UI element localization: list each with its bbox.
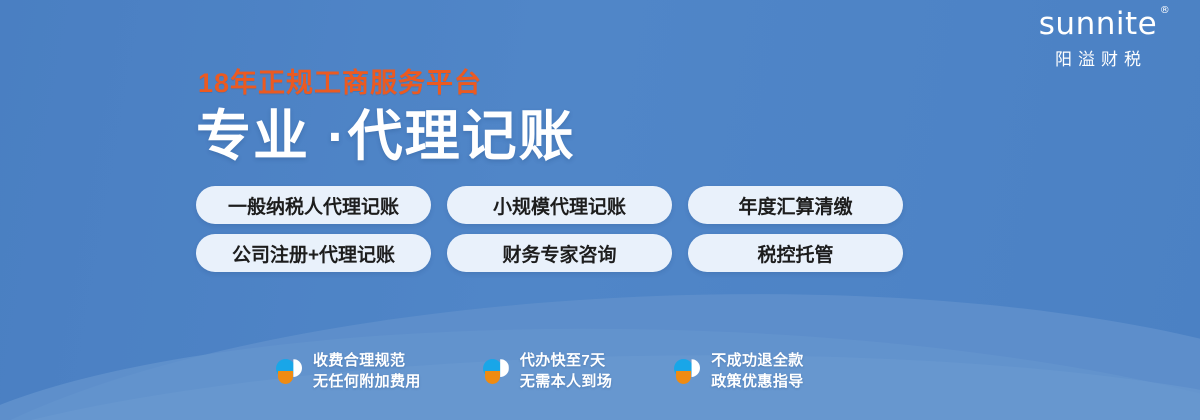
service-pill-tax-control-hosting[interactable]: 税控托管 <box>688 234 903 272</box>
dot-badge-icon-base <box>676 371 691 384</box>
feature-item-speed: 代办快至7天 无需本人到场 <box>483 350 612 393</box>
feature-item-guarantee: 不成功退全款 政策优惠指导 <box>674 350 803 393</box>
brand-logo[interactable]: sunnite ® 阳溢财税 <box>1018 8 1178 70</box>
brand-chinese-name: 阳溢财税 <box>1018 45 1178 70</box>
feature-strip: 收费合理规范 无任何附加费用 代办快至7天 无需本人到场 不成功退全款 <box>276 350 804 393</box>
feature-text-guarantee: 不成功退全款 政策优惠指导 <box>711 350 803 393</box>
dot-badge-icon-base <box>278 371 293 384</box>
service-pill-annual-settlement[interactable]: 年度汇算清缴 <box>688 186 903 224</box>
feature-line-1: 代办快至7天 <box>520 350 612 371</box>
feature-item-pricing: 收费合理规范 无任何附加费用 <box>276 350 421 393</box>
page-title: 专业 ·代理记账 <box>196 107 936 166</box>
feature-line-1: 不成功退全款 <box>711 350 803 371</box>
feature-text-pricing: 收费合理规范 无任何附加费用 <box>313 350 421 393</box>
feature-line-2: 政策优惠指导 <box>711 371 803 392</box>
registered-trademark-icon: ® <box>1160 6 1171 16</box>
service-pill-company-registration[interactable]: 公司注册+代理记账 <box>196 234 431 272</box>
dot-badge-icon <box>674 357 700 385</box>
promo-banner: sunnite ® 阳溢财税 18年正规工商服务平台 专业 ·代理记账 一般纳税… <box>0 0 1200 420</box>
hero-copy: 18年正规工商服务平台 专业 ·代理记账 一般纳税人代理记账 小规模代理记账 年… <box>196 70 936 272</box>
dot-badge-icon <box>276 357 302 385</box>
service-pill-general-taxpayer[interactable]: 一般纳税人代理记账 <box>196 186 431 224</box>
feature-line-2: 无需本人到场 <box>520 371 612 392</box>
dot-badge-icon <box>483 357 509 385</box>
feature-line-1: 收费合理规范 <box>313 350 421 371</box>
service-pill-expert-consulting[interactable]: 财务专家咨询 <box>447 234 672 272</box>
wave-shape-top <box>0 266 1200 420</box>
brand-wordmark-text: sunnite <box>1039 6 1157 42</box>
feature-text-speed: 代办快至7天 无需本人到场 <box>520 350 612 393</box>
hero-eyebrow: 18年正规工商服务平台 <box>198 70 936 97</box>
feature-line-2: 无任何附加费用 <box>313 371 421 392</box>
service-pill-small-scale[interactable]: 小规模代理记账 <box>447 186 672 224</box>
brand-wordmark: sunnite ® <box>1039 8 1157 41</box>
dot-badge-icon-base <box>485 371 500 384</box>
service-pill-grid: 一般纳税人代理记账 小规模代理记账 年度汇算清缴 公司注册+代理记账 财务专家咨… <box>196 186 936 272</box>
